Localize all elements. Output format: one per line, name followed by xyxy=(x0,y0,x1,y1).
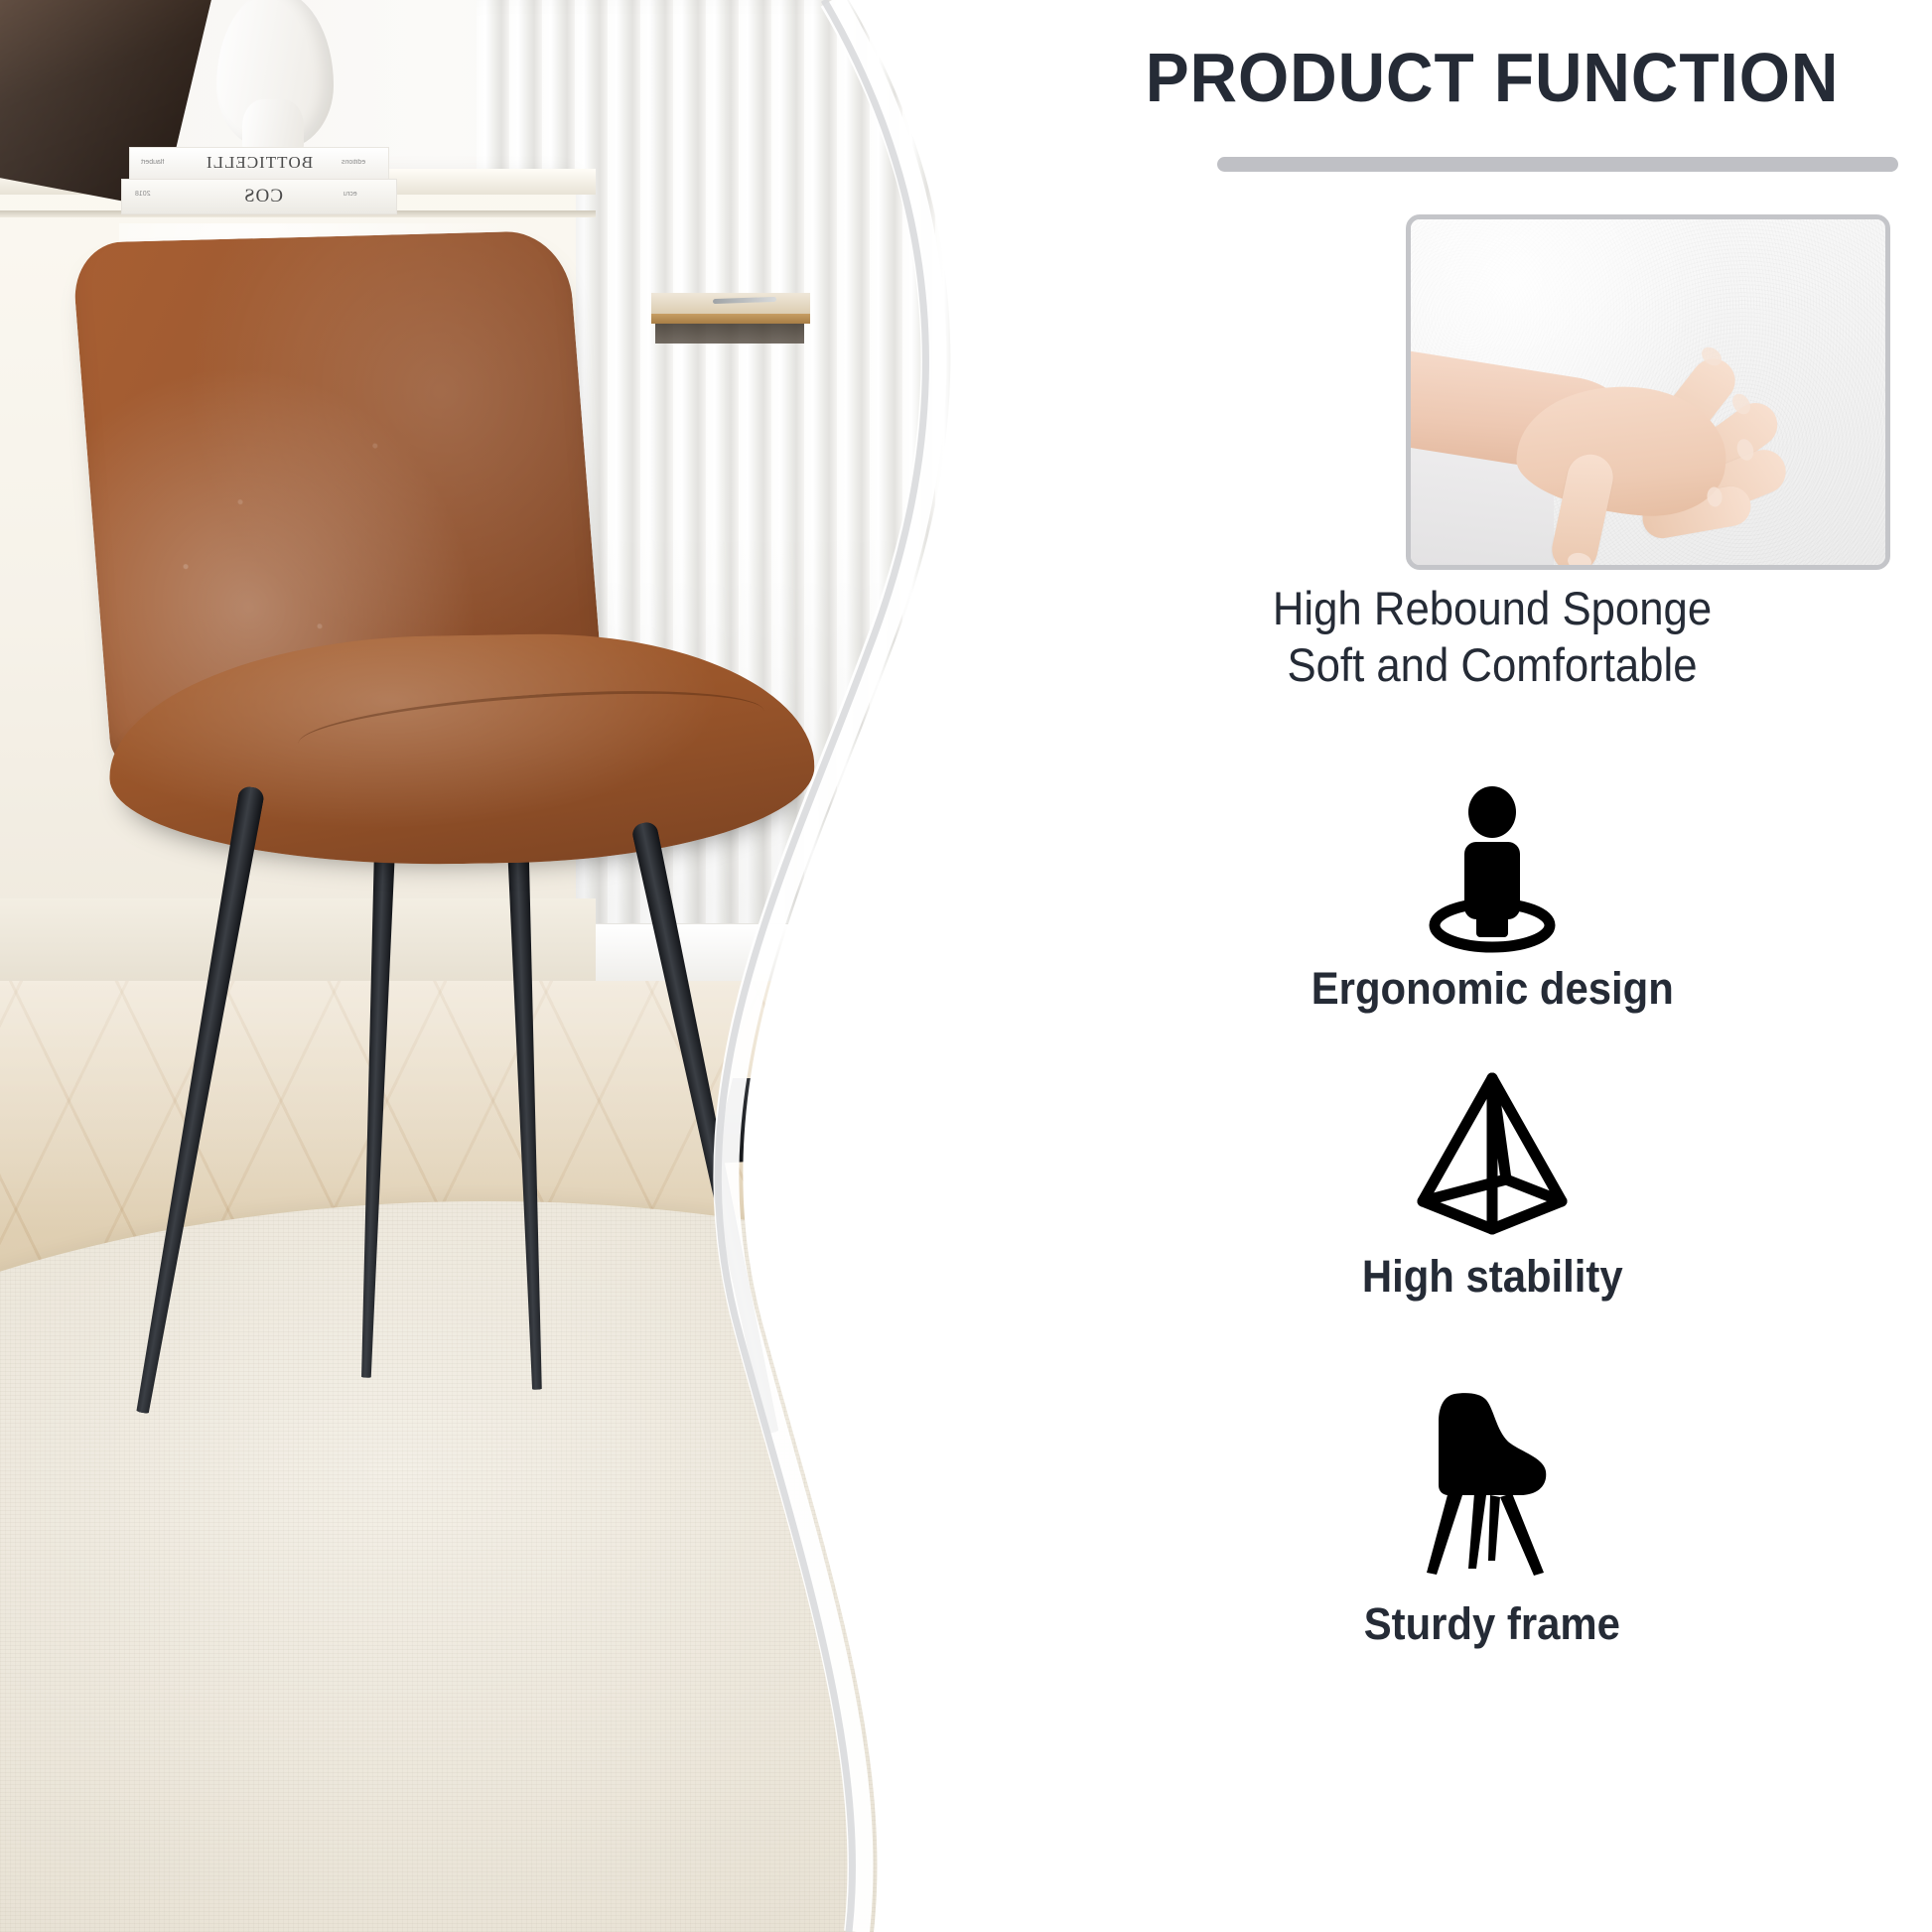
book-bottom-title: COS xyxy=(199,186,328,207)
sponge-caption-line1: High Rebound Sponge xyxy=(1083,580,1901,636)
chair-silhouette-icon xyxy=(1393,1380,1591,1588)
credenza-base xyxy=(0,898,596,988)
info-panel: PRODUCT FUNCTION High Rebound Sponge Sof… xyxy=(1052,0,1932,1932)
book-top-sub-right: editions xyxy=(342,159,365,166)
floating-shelf-edge xyxy=(651,314,810,324)
feature-high-stability-label: High stability xyxy=(1362,1251,1623,1303)
title-divider-rule xyxy=(1217,157,1898,172)
book-bottom-sub-left: 2018 xyxy=(135,191,151,198)
product-photo: BOTTICELLI COS flaubert editions 2018 ec… xyxy=(0,0,1092,1932)
feature-sturdy-frame-label: Sturdy frame xyxy=(1364,1598,1620,1650)
feature-ergonomic-design: Ergonomic design xyxy=(1052,784,1932,1015)
infographic-canvas: BOTTICELLI COS flaubert editions 2018 ec… xyxy=(0,0,1932,1932)
person-in-circle-icon xyxy=(1413,784,1572,953)
page-title: PRODUCT FUNCTION xyxy=(1079,38,1906,117)
wireframe-pyramid-icon xyxy=(1403,1062,1582,1241)
sponge-caption-line2: Soft and Comfortable xyxy=(1083,636,1901,693)
book-bottom-sub-right: ecru xyxy=(344,191,357,198)
feature-high-stability: High stability xyxy=(1052,1062,1932,1303)
floating-shelf-shadow xyxy=(655,324,804,344)
feature-sturdy-frame: Sturdy frame xyxy=(1052,1380,1932,1650)
book-top-title: BOTTICELLI xyxy=(195,153,324,173)
sponge-photo-card xyxy=(1406,214,1890,570)
feature-ergonomic-design-label: Ergonomic design xyxy=(1311,963,1673,1015)
book-top-sub-left: flaubert xyxy=(141,159,164,166)
sponge-caption: High Rebound Sponge Soft and Comfortable xyxy=(1083,580,1901,694)
